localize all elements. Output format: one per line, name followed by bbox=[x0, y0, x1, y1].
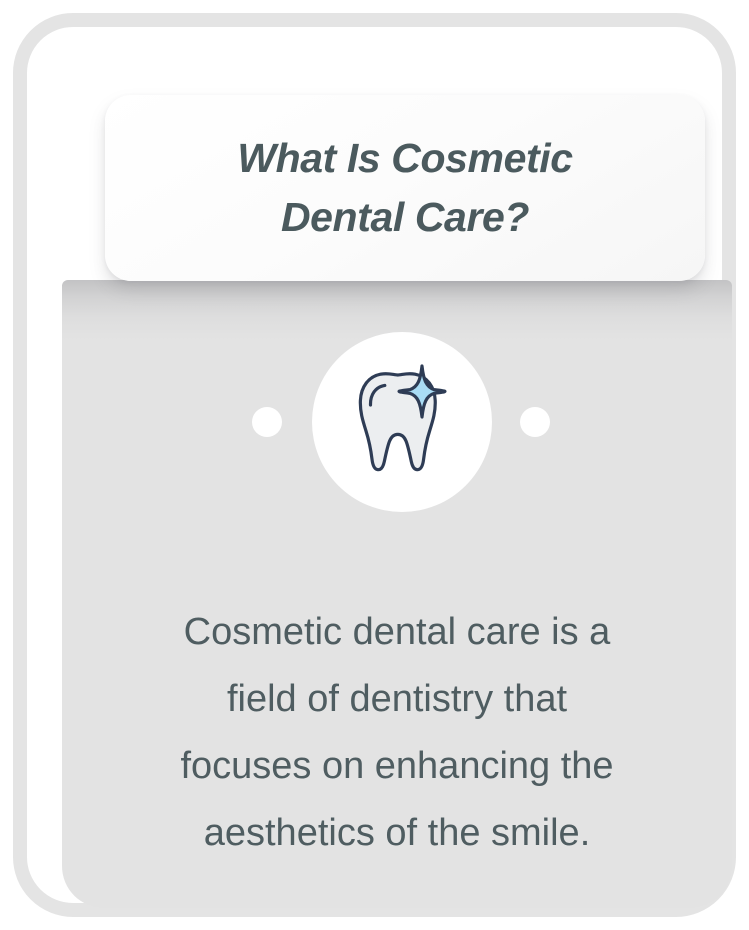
header-card: What Is Cosmetic Dental Care? bbox=[105, 95, 705, 281]
icon-row bbox=[62, 332, 732, 512]
page-title: What Is Cosmetic Dental Care? bbox=[213, 129, 596, 248]
icon-badge bbox=[312, 332, 492, 512]
panel-top-shadow bbox=[62, 280, 732, 340]
body-text: Cosmetic dental care is a field of denti… bbox=[97, 599, 697, 867]
outer-frame: What Is Cosmetic Dental Care? Cosmetic d… bbox=[13, 13, 736, 917]
tooth-sparkle-icon bbox=[350, 362, 454, 483]
decorative-dot-left bbox=[252, 407, 282, 437]
decorative-dot-right bbox=[520, 407, 550, 437]
